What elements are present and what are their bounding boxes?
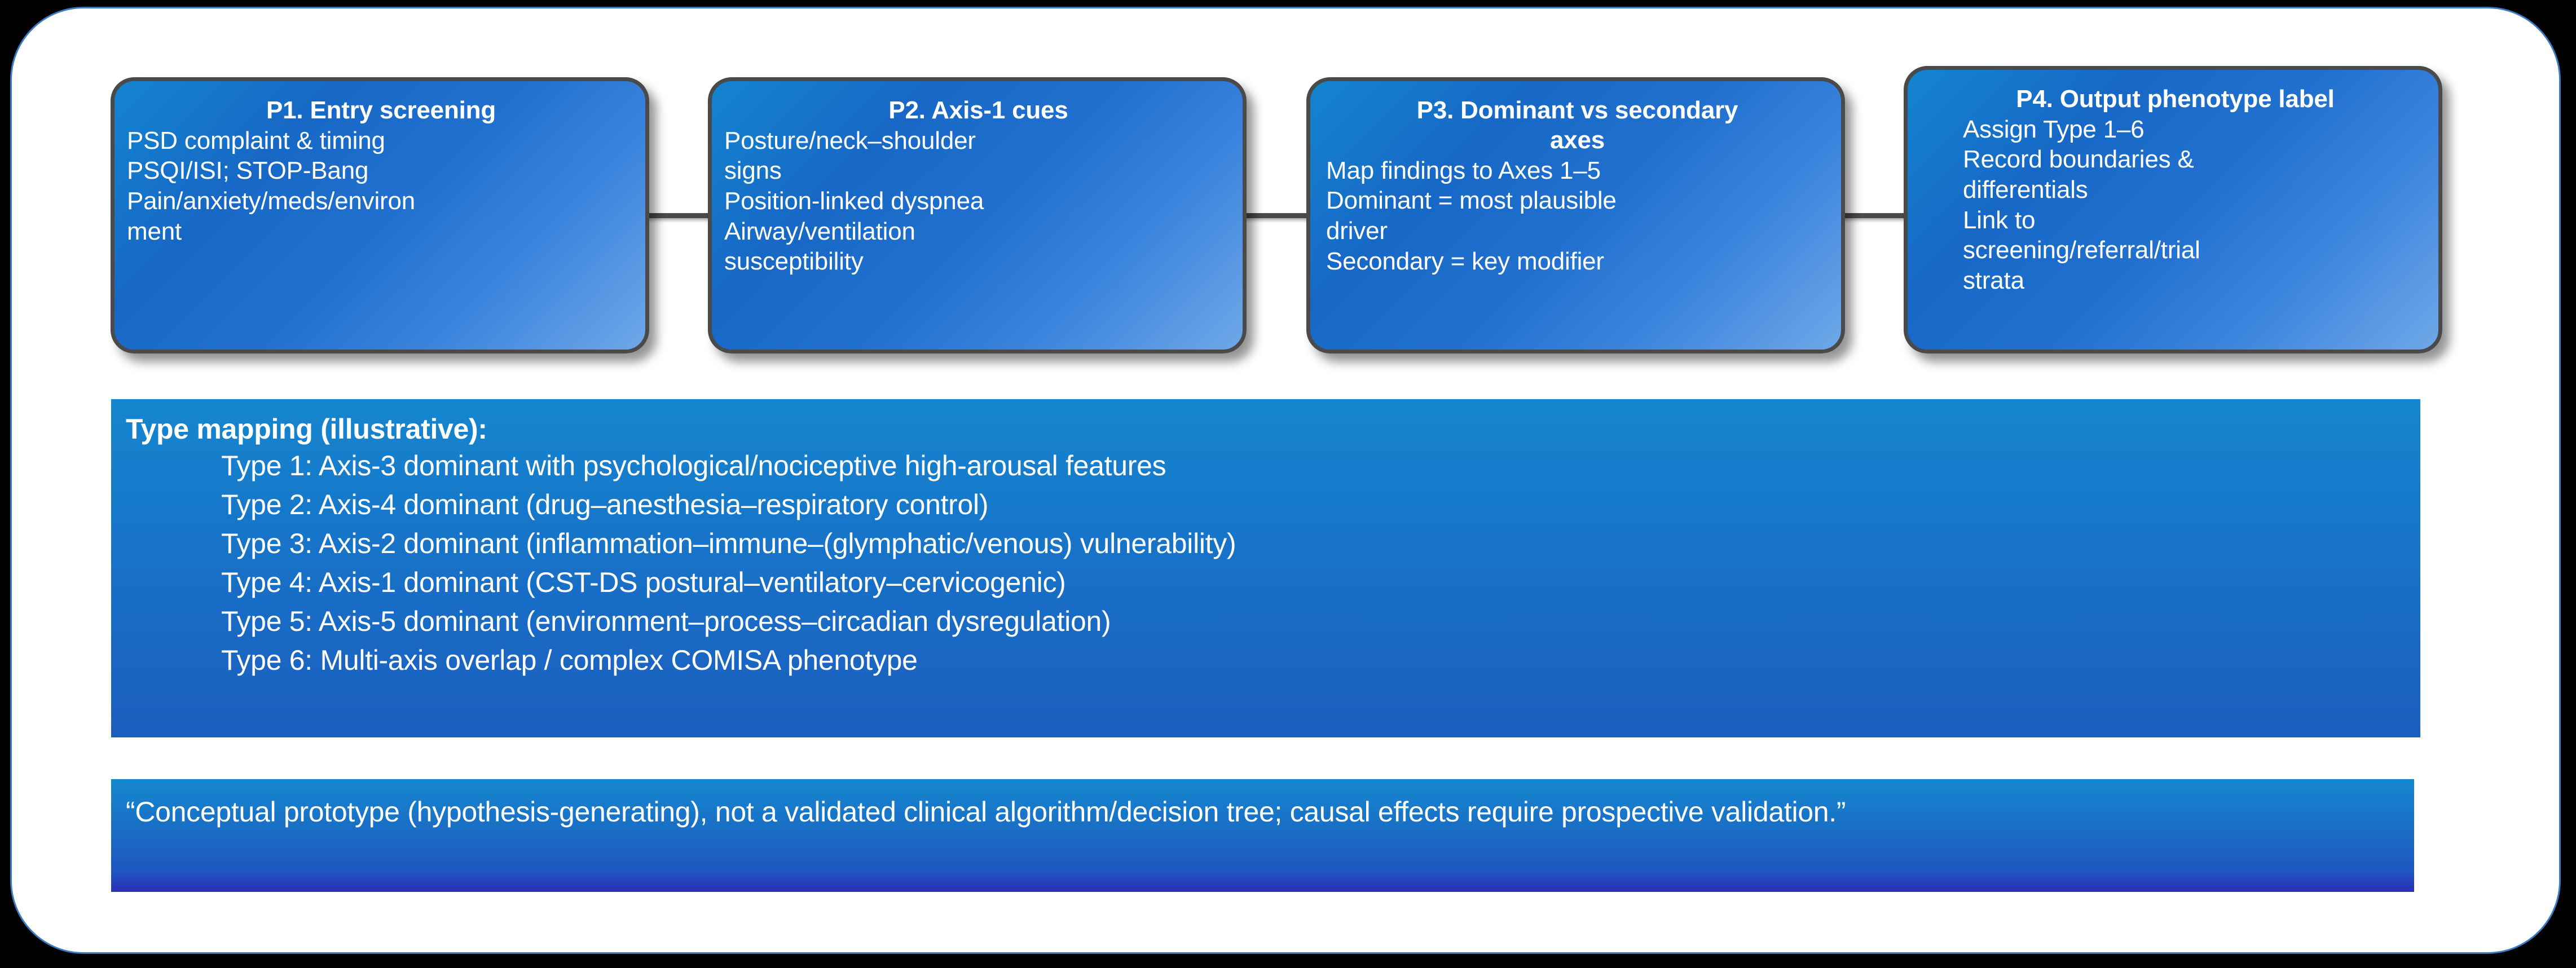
- process-box-p1-body: PSD complaint & timing PSQI/ISI; STOP-Ba…: [127, 126, 635, 247]
- type-mapping-item: Type 5: Axis-5 dominant (environment–pro…: [221, 602, 2420, 641]
- type-mapping-item: Type 6: Multi-axis overlap / complex COM…: [221, 641, 2420, 680]
- connector-p1-p2: [645, 213, 712, 218]
- type-mapping-item: Type 2: Axis-4 dominant (drug–anesthesia…: [221, 485, 2420, 524]
- process-box-p3-title: P3. Dominant vs secondary axes: [1324, 96, 1831, 156]
- type-mapping-item: Type 1: Axis-3 dominant with psychologic…: [221, 447, 2420, 485]
- connector-p2-p3: [1243, 213, 1310, 218]
- process-box-p3-body: Map findings to Axes 1–5 Dominant = most…: [1326, 156, 1831, 277]
- process-box-p4-title: P4. Output phenotype label: [1922, 85, 2428, 114]
- type-mapping-item: Type 3: Axis-2 dominant (inflammation–im…: [221, 524, 2420, 563]
- process-box-p2-body: Posture/neck–shoulder signs Position-lin…: [724, 126, 1232, 277]
- process-box-p4-body: Assign Type 1–6 Record boundaries & diff…: [1963, 114, 2428, 296]
- process-box-p4[interactable]: P4. Output phenotype label Assign Type 1…: [1904, 66, 2442, 353]
- type-mapping-item: Type 4: Axis-1 dominant (CST-DS postural…: [221, 563, 2420, 602]
- process-box-p2[interactable]: P2. Axis-1 cues Posture/neck–shoulder si…: [708, 77, 1247, 353]
- connector-p3-p4: [1841, 213, 1908, 218]
- type-mapping-panel: Type mapping (illustrative): Type 1: Axi…: [111, 399, 2420, 737]
- process-box-p2-title: P2. Axis-1 cues: [724, 96, 1232, 126]
- disclaimer-text: “Conceptual prototype (hypothesis-genera…: [126, 794, 2392, 830]
- disclaimer-panel: “Conceptual prototype (hypothesis-genera…: [111, 779, 2414, 892]
- process-box-p1[interactable]: P1. Entry screening PSD complaint & timi…: [111, 77, 649, 353]
- type-mapping-heading: Type mapping (illustrative):: [126, 413, 2420, 445]
- process-box-p1-title: P1. Entry screening: [127, 96, 635, 126]
- type-mapping-list: Type 1: Axis-3 dominant with psychologic…: [111, 447, 2420, 680]
- process-flow-row: P1. Entry screening PSD complaint & timi…: [0, 0, 2576, 372]
- process-box-p3[interactable]: P3. Dominant vs secondary axes Map findi…: [1306, 77, 1845, 353]
